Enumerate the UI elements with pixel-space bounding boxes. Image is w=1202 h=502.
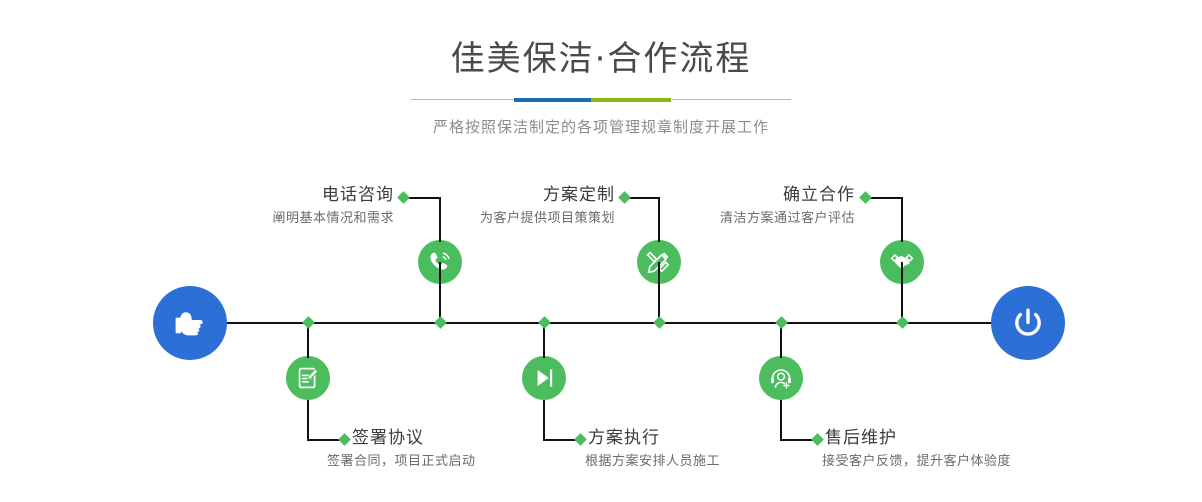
step-3-axis-diamond	[653, 316, 666, 329]
step-6-label-connector-horizontal	[780, 439, 815, 441]
step-3-node-connector	[658, 262, 660, 323]
power-icon	[1008, 303, 1048, 343]
step-5-label-diamond	[859, 191, 872, 204]
customer-service-add-icon	[768, 365, 794, 391]
step-2-axis-diamond	[302, 316, 315, 329]
page-subtitle: 严格按照保洁制定的各项管理规章制度开展工作	[0, 102, 1202, 138]
step-4-label-connector-horizontal	[543, 439, 578, 441]
step-4-label-connector-vertical	[543, 400, 545, 440]
step-5-axis-diamond	[896, 316, 909, 329]
step-1-title: 电话咨询	[150, 184, 394, 206]
timeline-start-endpoint	[153, 286, 227, 360]
step-2-label-connector-vertical	[307, 400, 309, 440]
play-execute-icon	[531, 365, 557, 391]
step-5-node-connector	[901, 262, 903, 323]
header: 佳美保洁·合作流程 严格按照保洁制定的各项管理规章制度开展工作	[0, 0, 1202, 138]
step-2-label-diamond	[338, 433, 351, 446]
timeline-end-endpoint	[991, 286, 1065, 360]
divider-green-segment	[591, 98, 671, 102]
step-6-axis-diamond	[775, 316, 788, 329]
step-1-desc: 阐明基本情况和需求	[150, 209, 394, 229]
step-4-title: 方案执行	[588, 427, 720, 449]
step-1-axis-diamond	[434, 316, 447, 329]
pointing-hand-icon	[170, 303, 210, 343]
step-4-axis-diamond	[538, 316, 551, 329]
step-3-title: 方案定制	[380, 184, 615, 206]
step-2-title: 签署协议	[352, 427, 476, 449]
step-3-desc: 为客户提供项目策策划	[380, 209, 615, 229]
process-flow-infographic: 佳美保洁·合作流程 严格按照保洁制定的各项管理规章制度开展工作	[0, 0, 1202, 502]
step-5-label-connector-vertical	[901, 197, 903, 242]
step-2-label: 签署协议 签署合同，项目正式启动	[352, 427, 476, 472]
step-5-title: 确立合作	[620, 184, 855, 206]
step-5-label-connector-horizontal	[869, 197, 902, 199]
step-6-desc: 接受客户反馈，提升客户体验度	[822, 452, 1011, 472]
step-6-title: 售后维护	[825, 427, 1011, 449]
step-4-label-diamond	[574, 433, 587, 446]
step-6-label-connector-vertical	[780, 400, 782, 440]
step-5-desc: 清洁方案通过客户评估	[620, 209, 855, 229]
step-5-label: 确立合作 清洁方案通过客户评估	[620, 184, 855, 229]
step-6-label: 售后维护 接受客户反馈，提升客户体验度	[825, 427, 1011, 472]
step-1-node-connector	[439, 262, 441, 323]
divider-blue-segment	[514, 98, 591, 102]
step-node-4[interactable]	[522, 356, 566, 400]
step-node-6[interactable]	[759, 356, 803, 400]
step-node-2[interactable]	[286, 356, 330, 400]
step-2-desc: 签署合同，项目正式启动	[327, 452, 476, 472]
step-6-label-diamond	[811, 433, 824, 446]
step-4-desc: 根据方案安排人员施工	[585, 452, 720, 472]
title-divider	[411, 98, 791, 102]
step-3-label: 方案定制 为客户提供项目策策划	[380, 184, 615, 229]
step-2-label-connector-horizontal	[307, 439, 342, 441]
document-edit-icon	[295, 365, 321, 391]
page-title: 佳美保洁·合作流程	[0, 0, 1202, 80]
step-1-label: 电话咨询 阐明基本情况和需求	[150, 184, 394, 229]
step-4-label: 方案执行 根据方案安排人员施工	[588, 427, 720, 472]
